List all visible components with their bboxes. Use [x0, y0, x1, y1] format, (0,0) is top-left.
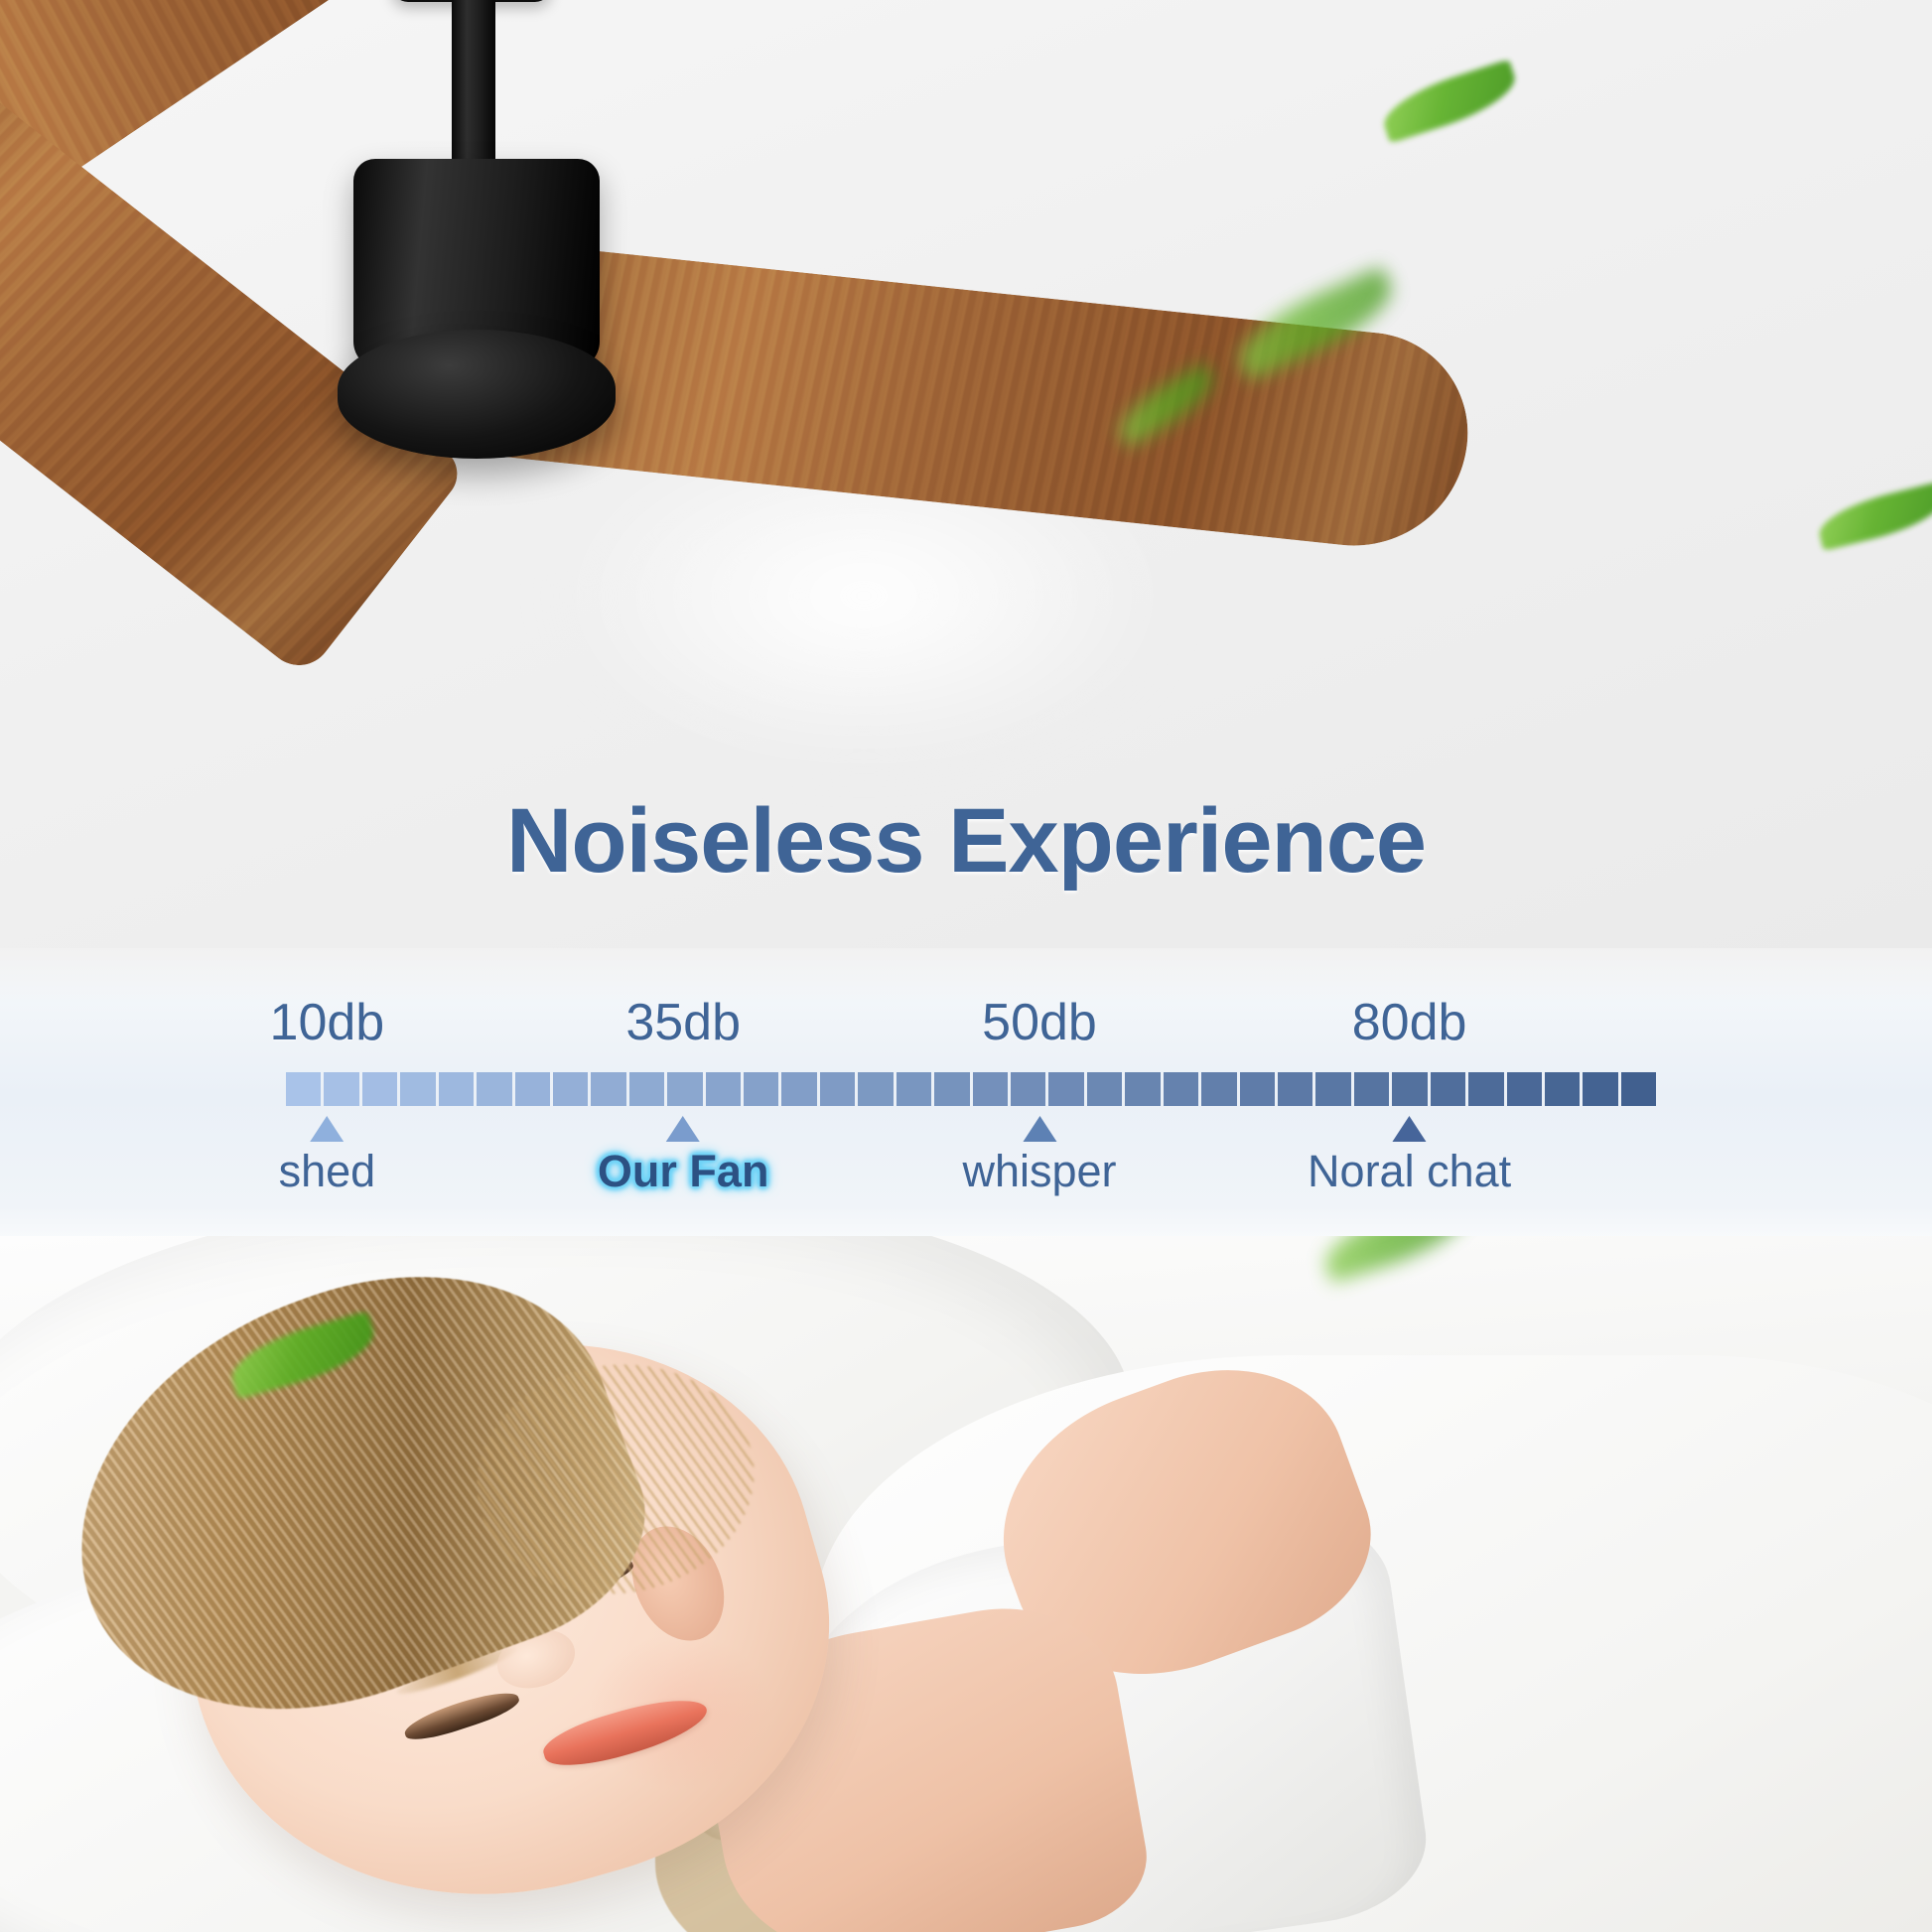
decibel-bar-segment [400, 1072, 435, 1106]
decibel-bar-segment [1011, 1072, 1045, 1106]
decibel-bar-segment [362, 1072, 397, 1106]
decibel-bar-segment [439, 1072, 474, 1106]
marker-arrow-icon [666, 1116, 700, 1142]
decibel-bar-segment [1431, 1072, 1465, 1106]
decibel-bar-segment [1545, 1072, 1580, 1106]
decibel-bar-segment [324, 1072, 358, 1106]
decibel-bar-segment [934, 1072, 969, 1106]
leaf-icon [1316, 1236, 1472, 1284]
marker-label: shed [279, 1146, 376, 1197]
decibel-bar-segment [591, 1072, 625, 1106]
decibel-bar-segment [629, 1072, 664, 1106]
marker-arrow-icon [310, 1116, 344, 1142]
decibel-bar-segment [1087, 1072, 1122, 1106]
fan-motor-cap [338, 330, 616, 459]
decibel-bar-segment [1201, 1072, 1236, 1106]
decibel-bar-segment [1315, 1072, 1350, 1106]
decibel-marker-noral-chat: Noral chat [1308, 1116, 1511, 1197]
decibel-bar-segment [973, 1072, 1008, 1106]
decibel-value-label: 35db [625, 993, 741, 1052]
marker-label: Our Fan [598, 1146, 769, 1197]
sleeping-child-scene: Time 1H2H4H [0, 1236, 1932, 1932]
decibel-bar-segment [515, 1072, 550, 1106]
marker-label: Noral chat [1308, 1146, 1511, 1197]
decibel-bar-segment [706, 1072, 741, 1106]
decibel-bar-segment [1125, 1072, 1160, 1106]
decibel-bar-segment [744, 1072, 778, 1106]
decibel-bar-segment [1354, 1072, 1389, 1106]
decibel-value-label: 80db [1352, 993, 1467, 1052]
decibel-bar-segment [858, 1072, 893, 1106]
marker-label: whisper [962, 1146, 1116, 1197]
decibel-bar-segment [1583, 1072, 1617, 1106]
decibel-bar-segment [553, 1072, 588, 1106]
decibel-bar-segment [477, 1072, 511, 1106]
marker-arrow-icon [1393, 1116, 1427, 1142]
decibel-bar-segment [1240, 1072, 1275, 1106]
decibel-value-label: 10db [270, 993, 385, 1052]
decibel-bar-track [286, 1072, 1656, 1106]
decibel-bar-segment [820, 1072, 855, 1106]
decibel-marker-whisper: whisper [962, 1116, 1116, 1197]
marker-arrow-icon [1023, 1116, 1056, 1142]
decibel-bar-segment [1278, 1072, 1312, 1106]
decibel-scale: 10db35db50db80db shedOur FanwhisperNoral… [234, 993, 1654, 1191]
decibel-bar-segment [286, 1072, 321, 1106]
decibel-bar-segment [1507, 1072, 1542, 1106]
page-title: Noiseless Experience [0, 789, 1932, 894]
decibel-value-label: 50db [982, 993, 1097, 1052]
fan-downrod [452, 0, 495, 173]
decibel-marker-shed: shed [279, 1116, 376, 1197]
decibel-bar-segment [1048, 1072, 1083, 1106]
decibel-bar-segment [897, 1072, 931, 1106]
decibel-bar-segment [1392, 1072, 1427, 1106]
decibel-bar-segment [1468, 1072, 1503, 1106]
decibel-bar-segment [1621, 1072, 1656, 1106]
decibel-bar-segment [1164, 1072, 1198, 1106]
decibel-bar-segment [667, 1072, 702, 1106]
decibel-marker-our-fan: Our Fan [598, 1116, 769, 1197]
decibel-bar-segment [781, 1072, 816, 1106]
